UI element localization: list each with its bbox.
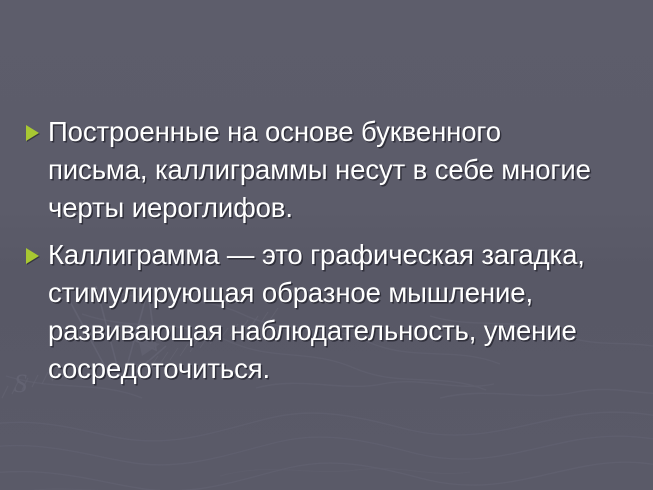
bullet-text: Каллиграмма — это графическая загадка, с…	[48, 236, 637, 388]
slide-content: Построенные на основе буквенного письма,…	[0, 0, 653, 490]
triangle-right-bullet-icon	[26, 125, 39, 141]
list-item: Каллиграмма — это графическая загадка, с…	[22, 236, 637, 388]
bullet-list: Построенные на основе буквенного письма,…	[22, 113, 637, 397]
triangle-right-bullet-icon	[26, 248, 39, 264]
bullet-text: Построенные на основе буквенного письма,…	[48, 113, 637, 227]
list-item: Построенные на основе буквенного письма,…	[22, 113, 637, 227]
slide-canvas: S Построенные на основе буквенного письм…	[0, 0, 653, 490]
